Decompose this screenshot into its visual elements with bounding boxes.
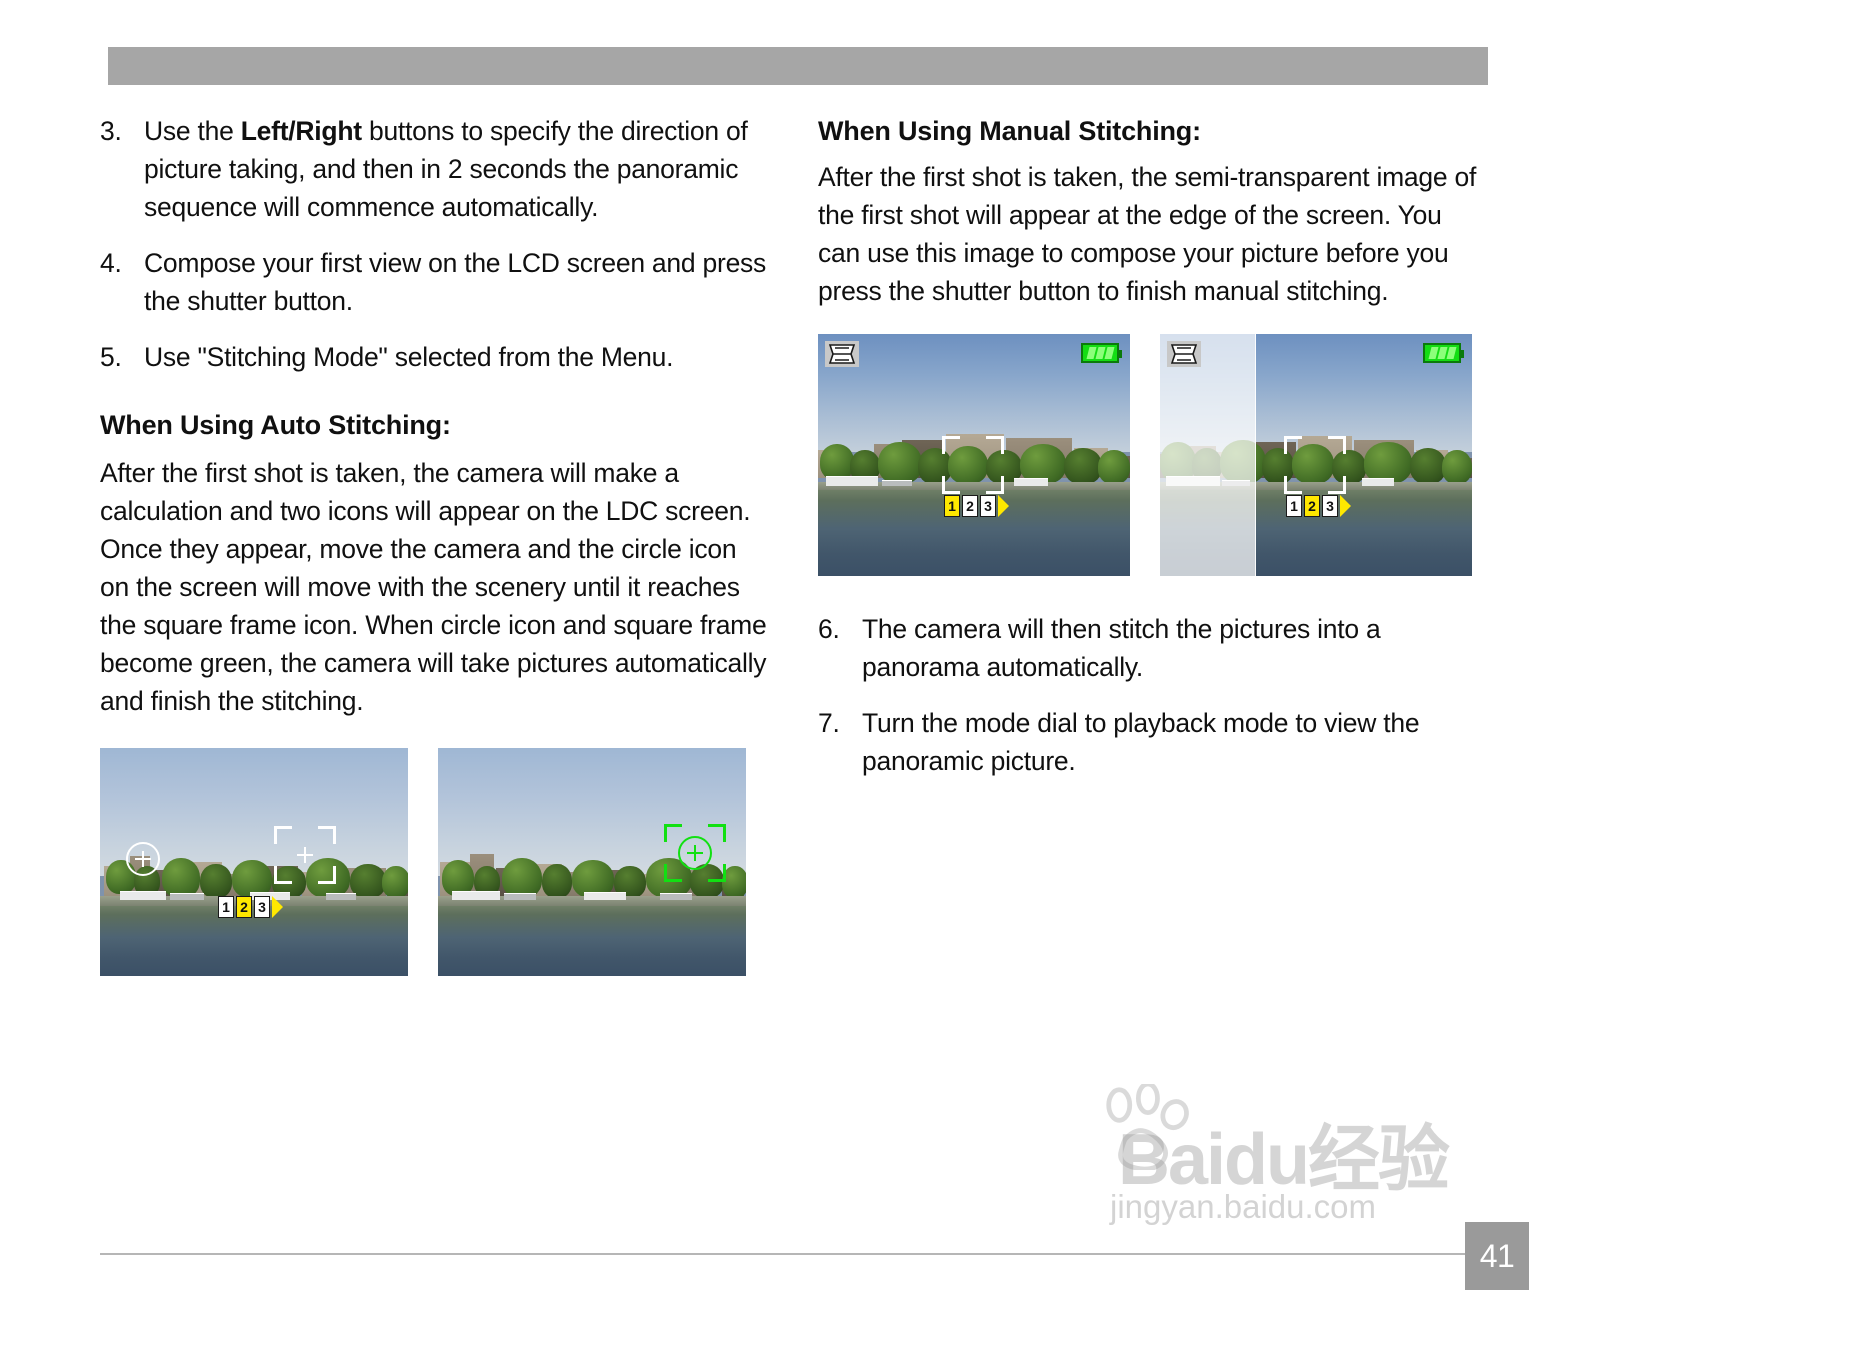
- lcd-manual-first-shot: 1 2 3: [818, 334, 1130, 576]
- lcd-auto-before: 1 2 3: [100, 748, 408, 976]
- step-arrow-icon: [1340, 495, 1351, 517]
- step-chip-2: 2: [1304, 495, 1320, 517]
- header-bar: [108, 47, 1488, 85]
- frame-center-plus-icon: [297, 847, 313, 863]
- list-number: 6.: [818, 610, 862, 686]
- page-number: 41: [1465, 1222, 1529, 1290]
- step-chip-1: 1: [944, 495, 960, 517]
- list-number: 3.: [100, 112, 144, 226]
- battery-icon: [1081, 343, 1119, 363]
- auto-stitching-paragraph: After the first shot is taken, the camer…: [100, 454, 772, 720]
- lcd-manual-second-shot: 1 2 3: [1160, 334, 1472, 576]
- step-arrow-icon: [272, 896, 283, 918]
- list-text-bold: Left/Right: [241, 116, 362, 146]
- list-text-before: Use the: [144, 116, 241, 146]
- baidu-paw-icon: [1098, 1084, 1194, 1170]
- step-indicator: 1 2 3: [1286, 495, 1351, 517]
- step-chip-1: 1: [218, 896, 234, 918]
- step-indicator: 1 2 3: [944, 495, 1009, 517]
- list-number: 4.: [100, 244, 144, 320]
- auto-stitching-figures: 1 2 3: [100, 748, 772, 976]
- step-chip-3: 3: [1322, 495, 1338, 517]
- panorama-mode-icon: [1167, 341, 1201, 367]
- step-chip-1: 1: [1286, 495, 1302, 517]
- list-text: Compose your first view on the LCD scree…: [144, 244, 772, 320]
- list-text: Use the Left/Right buttons to specify th…: [144, 112, 772, 226]
- list-item: 6. The camera will then stitch the pictu…: [818, 610, 1478, 686]
- circle-target-icon: [126, 842, 160, 876]
- manual-stitching-figures: 1 2 3: [818, 334, 1478, 576]
- semi-transparent-overlay: [1160, 334, 1256, 576]
- watermark-main-text: Baidu经验: [1118, 1100, 1448, 1205]
- watermark-sub-text: jingyan.baidu.com: [1110, 1188, 1376, 1226]
- list-number: 5.: [100, 338, 144, 376]
- af-frame-icon: [942, 436, 1004, 494]
- step-indicator: 1 2 3: [218, 896, 283, 918]
- list-item: 7. Turn the mode dial to playback mode t…: [818, 704, 1478, 780]
- manual-stitching-paragraph: After the first shot is taken, the semi-…: [818, 158, 1478, 310]
- baidu-watermark: Baidu经验 jingyan.baidu.com: [1100, 1078, 1520, 1253]
- battery-icon: [1423, 343, 1461, 363]
- list-number: 7.: [818, 704, 862, 780]
- auto-stitching-heading: When Using Auto Stitching:: [100, 406, 772, 444]
- list-text: The camera will then stitch the pictures…: [862, 610, 1478, 686]
- list-text: Use "Stitching Mode" selected from the M…: [144, 338, 772, 376]
- list-item: 3. Use the Left/Right buttons to specify…: [100, 112, 772, 226]
- manual-stitching-heading: When Using Manual Stitching:: [818, 112, 1478, 150]
- list-item: 4. Compose your first view on the LCD sc…: [100, 244, 772, 320]
- list-text: Turn the mode dial to playback mode to v…: [862, 704, 1478, 780]
- circle-target-icon-green: [678, 836, 712, 870]
- manual-stitching-steps: 6. The camera will then stitch the pictu…: [818, 610, 1478, 780]
- right-column: When Using Manual Stitching: After the f…: [818, 112, 1478, 798]
- step-chip-2: 2: [236, 896, 252, 918]
- footer-rule: [100, 1253, 1492, 1255]
- left-column: 3. Use the Left/Right buttons to specify…: [100, 112, 772, 976]
- step-chip-3: 3: [980, 495, 996, 517]
- list-item: 5. Use "Stitching Mode" selected from th…: [100, 338, 772, 376]
- manual-page: 3. Use the Left/Right buttons to specify…: [0, 0, 1871, 1361]
- step-arrow-icon: [998, 495, 1009, 517]
- lcd-auto-matched: [438, 748, 746, 976]
- panorama-mode-icon: [825, 341, 859, 367]
- af-frame-icon: [1284, 436, 1346, 494]
- step-chip-2: 2: [962, 495, 978, 517]
- step-chip-3: 3: [254, 896, 270, 918]
